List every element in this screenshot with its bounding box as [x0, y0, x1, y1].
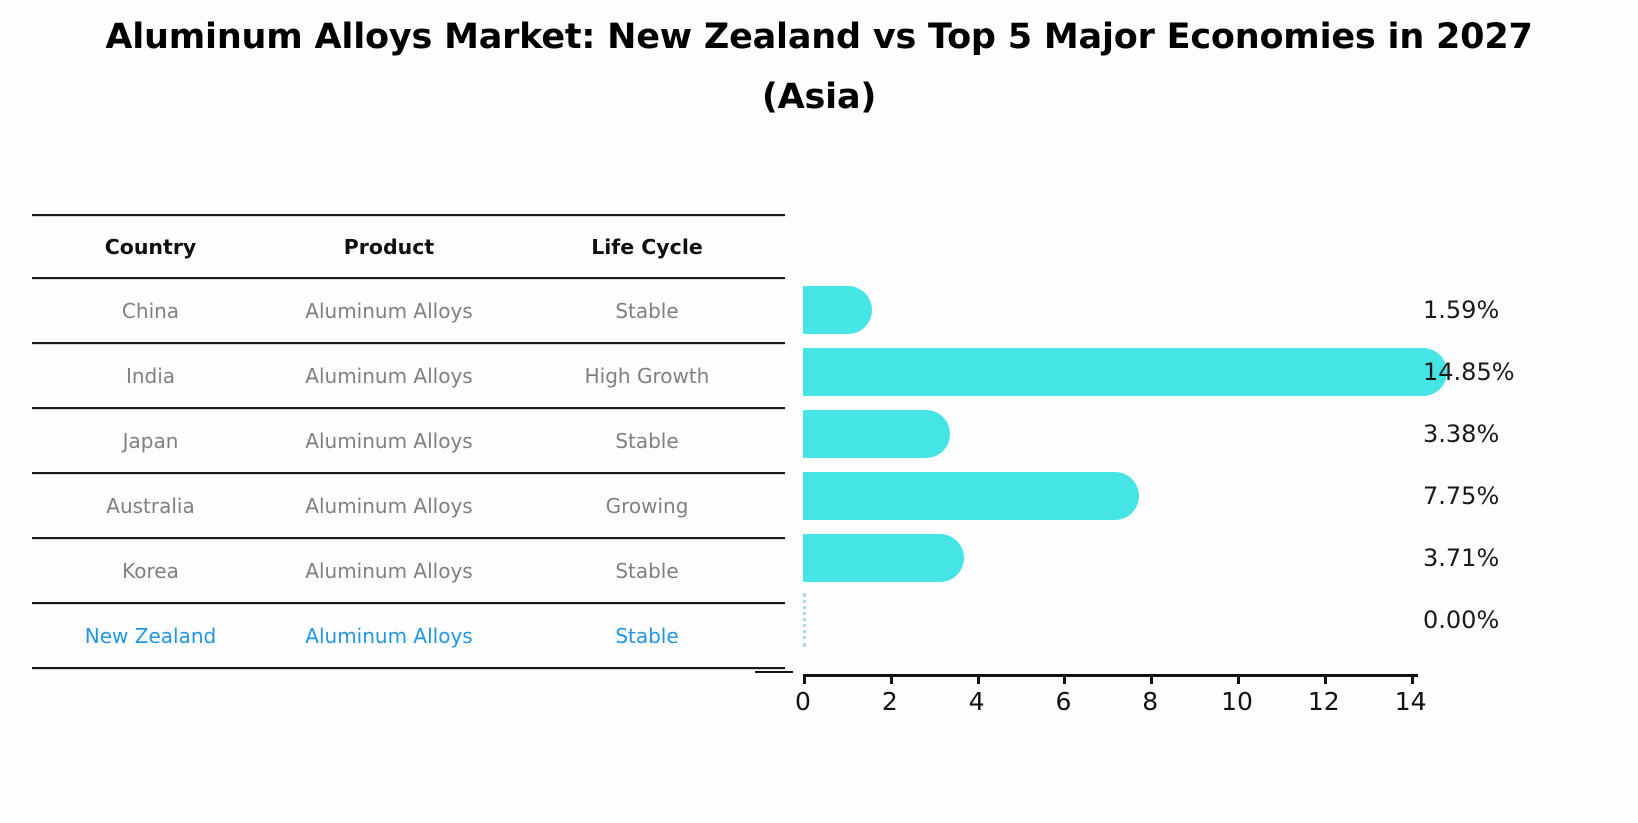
- chart-title-line-1: Aluminum Alloys Market: New Zealand vs T…: [0, 8, 1638, 68]
- table-row: China Aluminum Alloys Stable: [32, 280, 785, 342]
- bar: [803, 348, 1447, 396]
- cell-product: Aluminum Alloys: [269, 559, 509, 583]
- bar-value-label: 1.59%: [1423, 296, 1499, 324]
- x-axis-tick-label: 12: [1308, 687, 1340, 716]
- bar-value-label: 0.00%: [1423, 606, 1499, 634]
- bar-row: 3.71%: [803, 527, 1418, 589]
- cell-country: China: [32, 299, 269, 323]
- column-header-country: Country: [32, 235, 269, 259]
- chart-title: Aluminum Alloys Market: New Zealand vs T…: [0, 8, 1638, 127]
- table-row: Australia Aluminum Alloys Growing: [32, 475, 785, 537]
- x-axis-line: [803, 674, 1418, 677]
- column-header-product: Product: [269, 235, 509, 259]
- table-row: India Aluminum Alloys High Growth: [32, 345, 785, 407]
- x-axis-tick-label: 14: [1395, 687, 1427, 716]
- x-axis-tick: [1411, 674, 1414, 684]
- bar-row: 0.00%: [803, 589, 1418, 651]
- x-axis-tick: [890, 674, 893, 684]
- table-row: Japan Aluminum Alloys Stable: [32, 410, 785, 472]
- cell-country: India: [32, 364, 269, 388]
- bar-zero-marker: [803, 593, 806, 647]
- x-axis-tick-label: 6: [1055, 687, 1071, 716]
- x-axis-tick-label: 0: [795, 687, 811, 716]
- x-axis-tick: [1150, 674, 1153, 684]
- bar-row: 1.59%: [803, 279, 1418, 341]
- bar-value-label: 14.85%: [1423, 358, 1515, 386]
- cell-life-cycle: Stable: [509, 429, 785, 453]
- cell-life-cycle: Growing: [509, 494, 785, 518]
- x-axis-tick: [977, 674, 980, 684]
- cell-product: Aluminum Alloys: [269, 624, 509, 648]
- bar: [803, 534, 964, 582]
- x-axis-tick: [1324, 674, 1327, 684]
- bar-value-label: 3.71%: [1423, 544, 1499, 572]
- x-axis-tick-label: 2: [882, 687, 898, 716]
- bar: [803, 286, 872, 334]
- bar: [803, 410, 950, 458]
- table-bottom-rule-thin: [32, 669, 785, 670]
- cell-product: Aluminum Alloys: [269, 429, 509, 453]
- column-header-life-cycle: Life Cycle: [509, 235, 785, 259]
- bar-row: 3.38%: [803, 403, 1418, 465]
- x-axis-tick: [1237, 674, 1240, 684]
- x-axis-tick-label: 8: [1142, 687, 1158, 716]
- cell-life-cycle: Stable: [509, 624, 785, 648]
- axis-left-stub: [755, 671, 793, 673]
- table-row-highlighted: New Zealand Aluminum Alloys Stable: [32, 605, 785, 667]
- cell-country: Japan: [32, 429, 269, 453]
- bar: [803, 472, 1139, 520]
- cell-life-cycle: Stable: [509, 299, 785, 323]
- table-header-row: Country Product Life Cycle: [32, 217, 785, 277]
- cell-life-cycle: Stable: [509, 559, 785, 583]
- cell-product: Aluminum Alloys: [269, 299, 509, 323]
- chart-title-line-2: (Asia): [0, 68, 1638, 128]
- bar-value-label: 7.75%: [1423, 482, 1499, 510]
- cell-country: Australia: [32, 494, 269, 518]
- bar-row: 7.75%: [803, 465, 1418, 527]
- cell-life-cycle: High Growth: [509, 364, 785, 388]
- x-axis-tick-label: 4: [969, 687, 985, 716]
- cell-product: Aluminum Alloys: [269, 364, 509, 388]
- table-row: Korea Aluminum Alloys Stable: [32, 540, 785, 602]
- x-axis-tick: [1063, 674, 1066, 684]
- cell-country: Korea: [32, 559, 269, 583]
- bar-value-label: 3.38%: [1423, 420, 1499, 448]
- plot-area: 1.59%14.85%3.38%7.75%3.71%0.00%: [803, 214, 1418, 674]
- country-table: Country Product Life Cycle China Aluminu…: [32, 214, 785, 670]
- cell-country: New Zealand: [32, 624, 269, 648]
- x-axis-tick-label: 10: [1221, 687, 1253, 716]
- bar-row: 14.85%: [803, 341, 1418, 403]
- x-axis-tick: [803, 674, 806, 684]
- cell-product: Aluminum Alloys: [269, 494, 509, 518]
